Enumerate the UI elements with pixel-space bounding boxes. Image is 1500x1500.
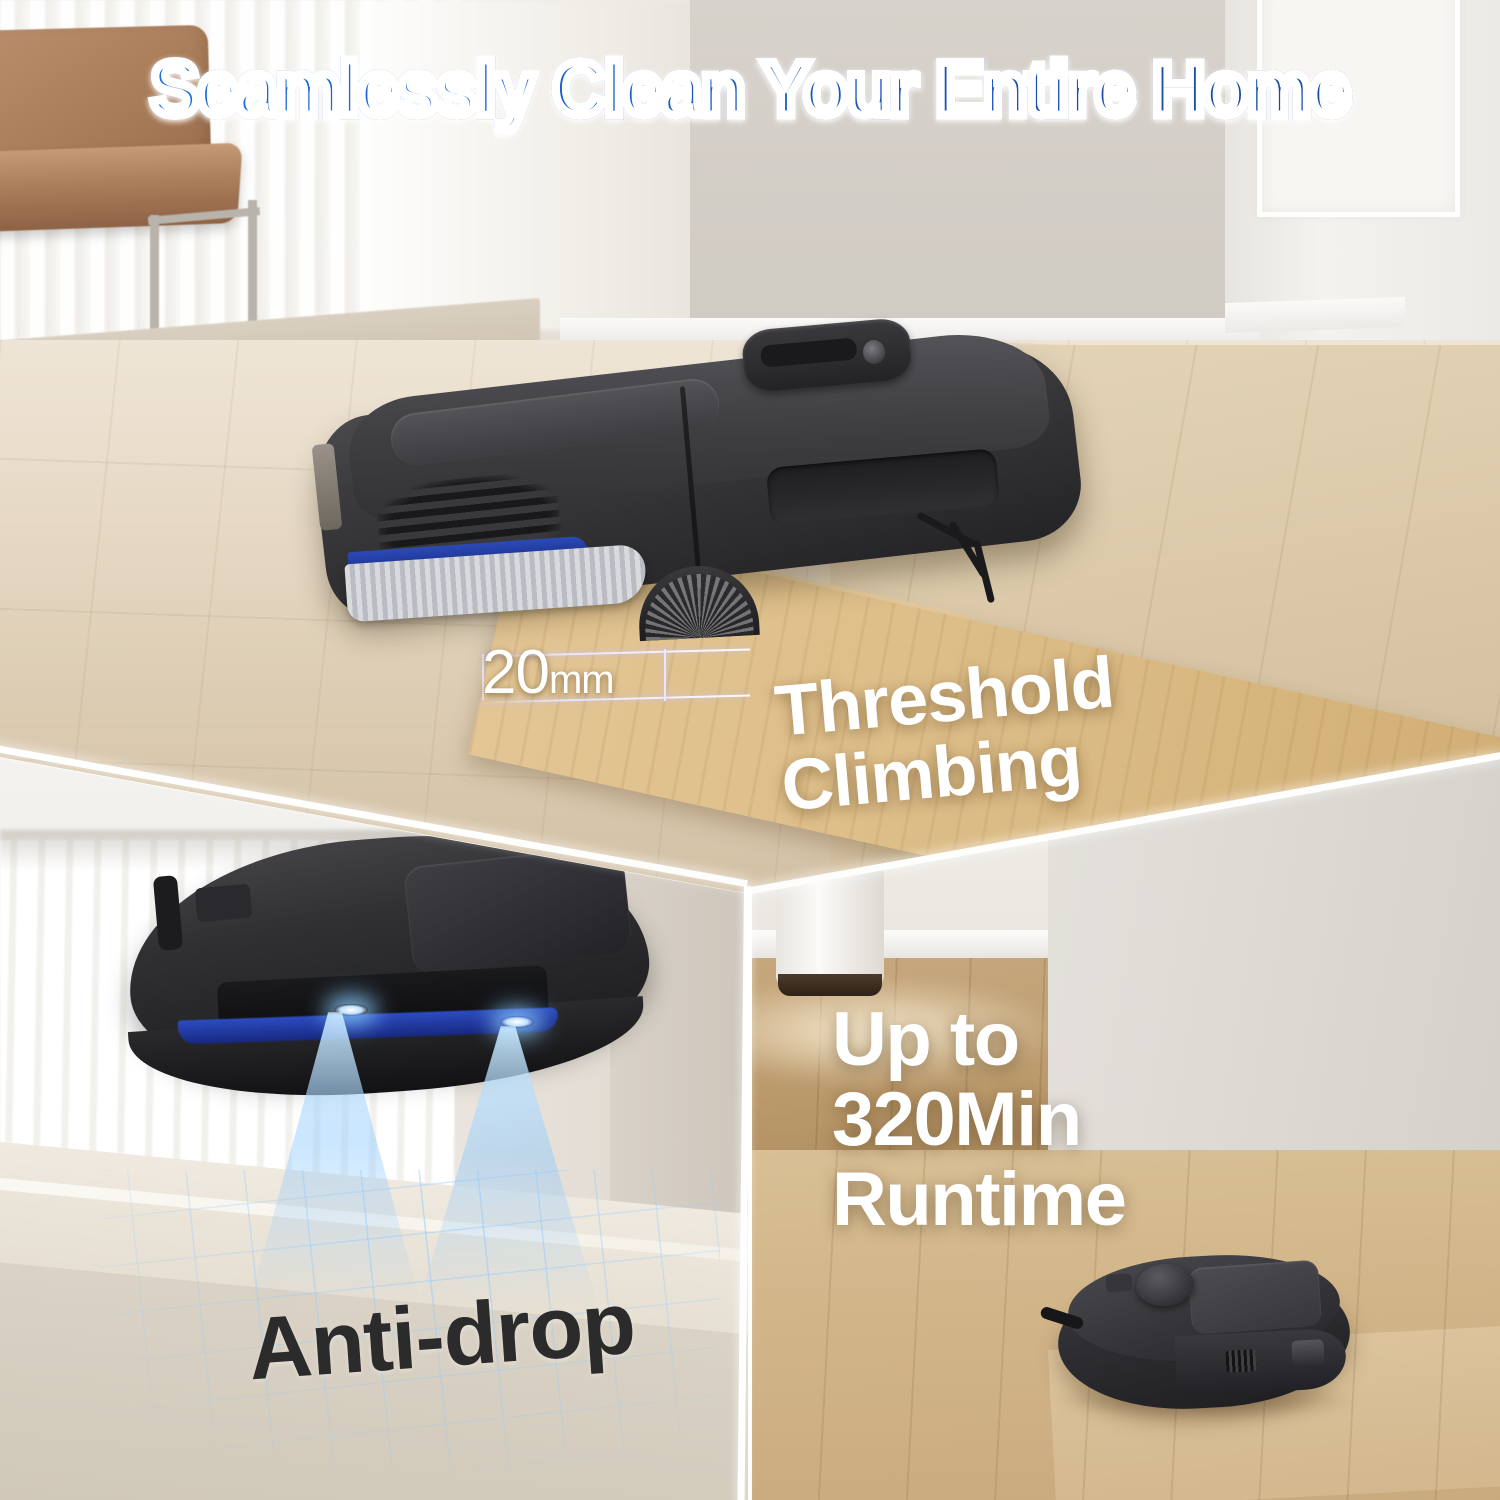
caption-runtime: Up to 320Min Runtime — [832, 1000, 1126, 1239]
measurement-value: 20 — [482, 638, 549, 707]
robot-control-buttons — [1105, 1273, 1132, 1293]
product-feature-graphic: 20mm Threshold Climbing Anti — [0, 0, 1500, 1500]
page-title: Seamlessly Clean Your Entire Home — [30, 52, 1470, 128]
robot-vent-grille — [1225, 1349, 1256, 1373]
threshold-height-measurement: 20mm — [460, 636, 760, 718]
chair-leg-front — [150, 215, 159, 340]
robot-sensor-window — [195, 884, 253, 923]
caption-threshold-climbing: Threshold Climbing — [772, 646, 1123, 825]
table-leg-foot — [778, 974, 882, 996]
measurement-tick-right — [664, 649, 666, 701]
panel-threshold-climbing: 20mm — [0, 0, 1500, 900]
measurement-label: 20mm — [482, 642, 614, 704]
side-brush — [914, 516, 1024, 594]
robot-vacuum-at-edge — [108, 828, 668, 1228]
robot-sensor-window — [1291, 1339, 1324, 1367]
robot-dustbin-lid — [1188, 1260, 1322, 1335]
measurement-unit: mm — [549, 658, 614, 702]
robot-side-wall-sensor — [153, 875, 183, 951]
robot-vacuum-side-view — [318, 318, 1078, 618]
robot-vacuum-top-view — [1058, 1240, 1358, 1430]
baseboard-trim-right — [1225, 297, 1405, 333]
